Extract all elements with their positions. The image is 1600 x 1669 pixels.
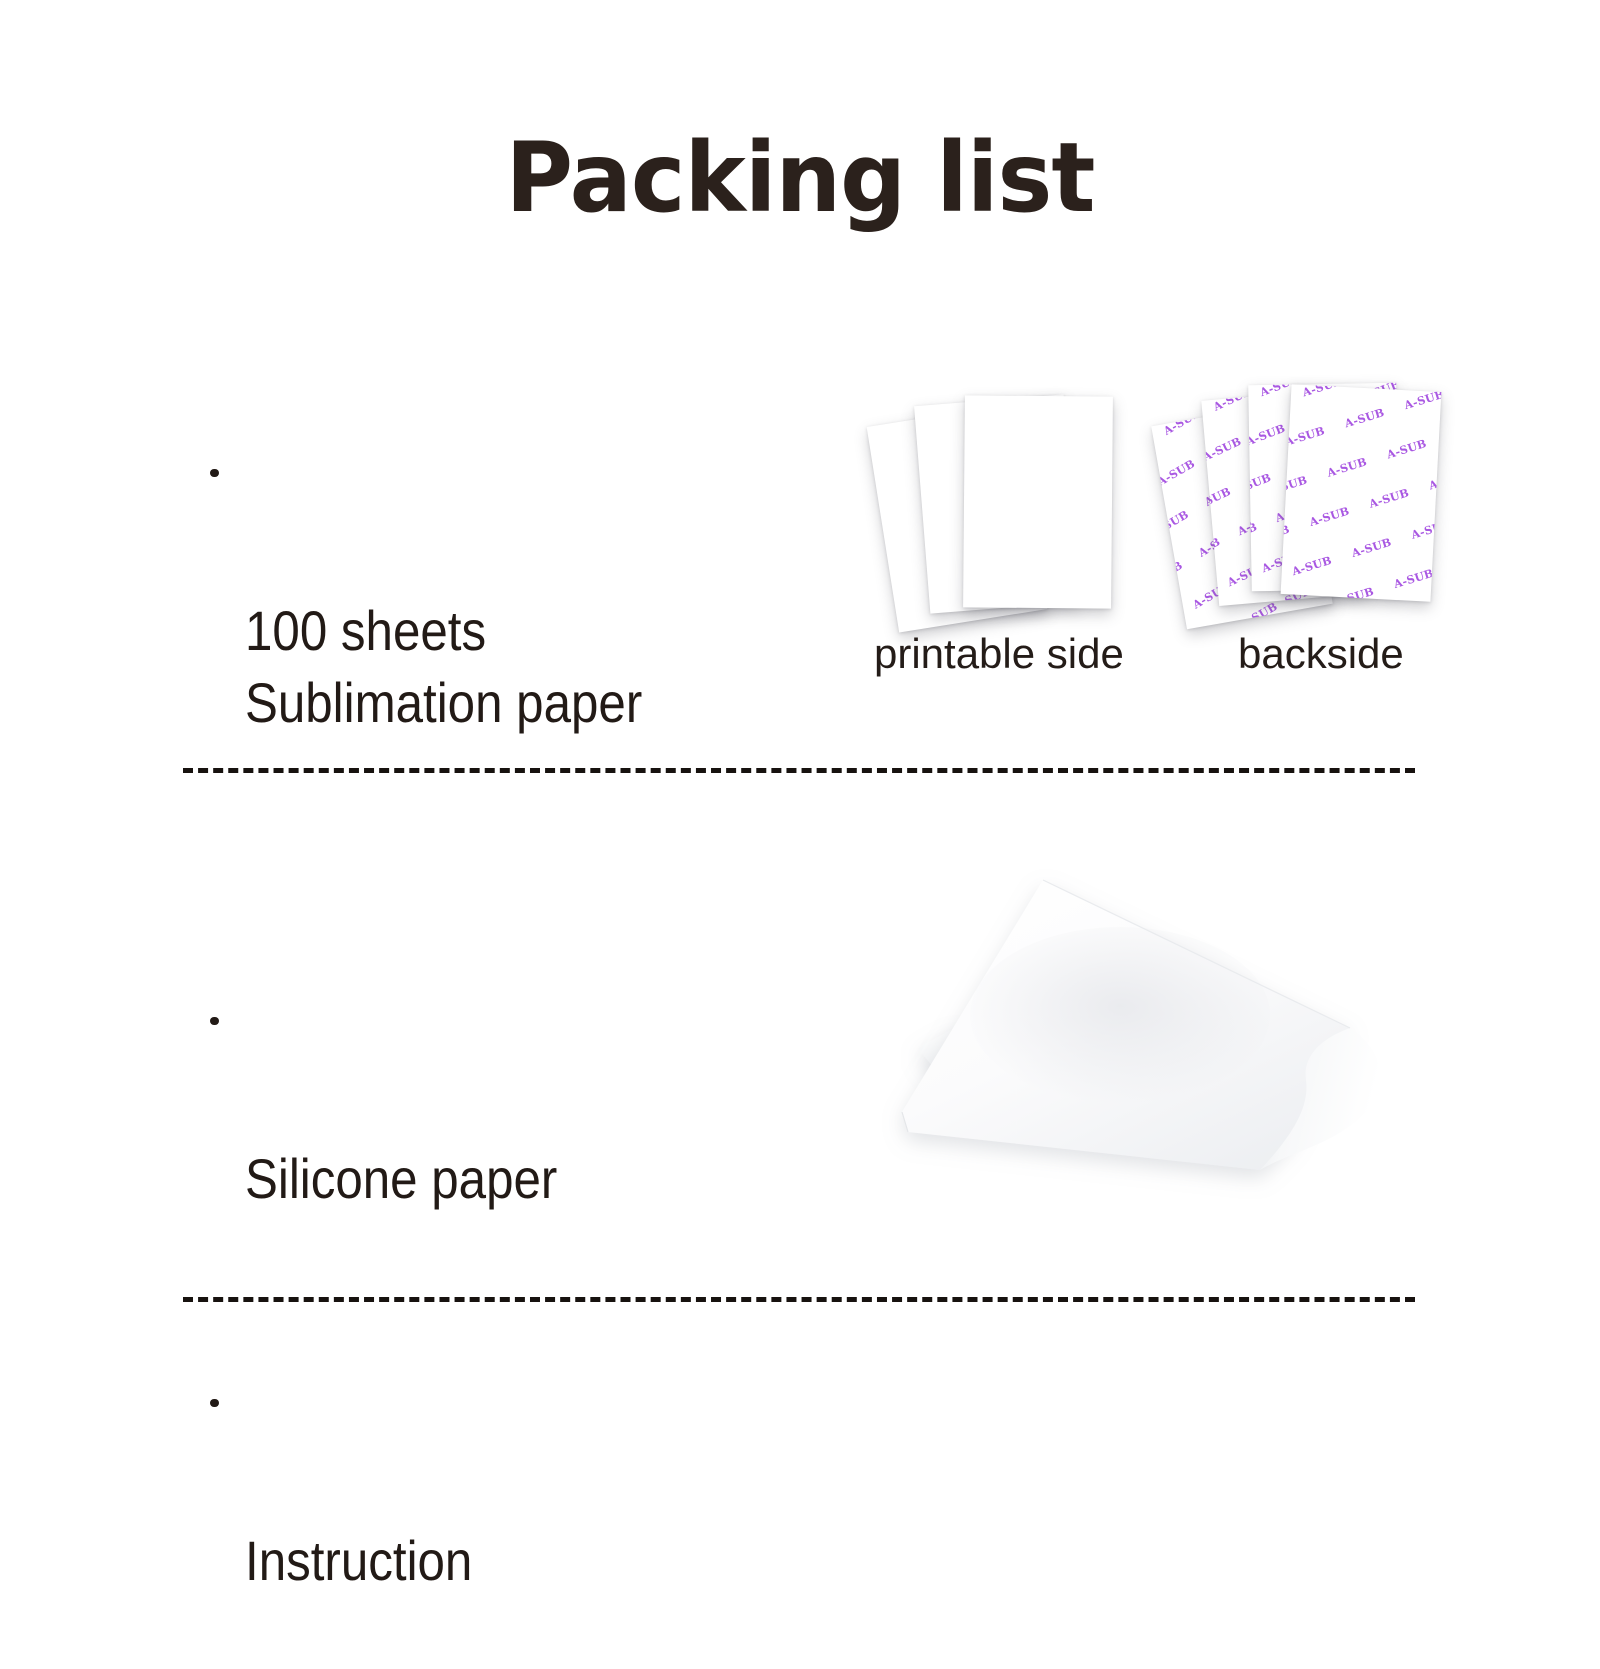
caption-printable-side: printable side bbox=[874, 630, 1124, 678]
watermark-text: A-SUB bbox=[1283, 424, 1326, 448]
watermark-text: A-SUB bbox=[1248, 422, 1286, 449]
dot-bullet-icon bbox=[210, 1399, 219, 1408]
paper-sheet bbox=[963, 395, 1113, 608]
watermark-text: A-SUB bbox=[1343, 406, 1386, 430]
silicone-paper-illustration bbox=[790, 840, 1410, 1210]
watermark-text: A-SUB bbox=[1161, 406, 1203, 438]
watermark-text: A-SUB bbox=[1155, 457, 1197, 489]
watermark-text: A-SUB bbox=[1392, 566, 1435, 590]
dot-bullet-icon bbox=[210, 1017, 219, 1026]
dot-bullet-icon bbox=[210, 469, 219, 478]
page-title: Packing list bbox=[32, 126, 1568, 232]
paper-stack-backside-illustration: A-SUBA-SUBA-SUBA-SUBA-SUBA-SUBA-SUBA-SUB… bbox=[1158, 352, 1458, 642]
dashed-divider bbox=[183, 768, 1415, 773]
watermark-text: A-SUB bbox=[1403, 387, 1442, 411]
caption-backside: backside bbox=[1238, 630, 1404, 678]
list-item-sublimation-paper: 100 sheets Sublimation paper bbox=[210, 452, 696, 810]
watermark-text: A-SUB bbox=[1385, 437, 1428, 461]
watermark-text: A-SUB bbox=[1211, 388, 1254, 414]
watermark-text: A-SUB bbox=[1368, 486, 1411, 510]
watermark-text: A-SUB bbox=[1285, 620, 1327, 629]
watermark-text: A-SUB bbox=[1201, 435, 1243, 464]
list-item-label: Silicone paper bbox=[245, 1143, 557, 1215]
watermark-text: A-SUB bbox=[1434, 597, 1441, 601]
watermark-text: A-SUB bbox=[1308, 504, 1351, 528]
paper-stack-printable-illustration bbox=[860, 352, 1160, 642]
watermark-text: A-SUB bbox=[1151, 508, 1191, 540]
watermark-pattern: A-SUBA-SUBA-SUBA-SUBA-SUBA-SUBA-SUBA-SUB… bbox=[1281, 384, 1442, 602]
watermark-text: A-SUB bbox=[1332, 585, 1375, 602]
paper-sheet-watermarked: A-SUBA-SUBA-SUBA-SUBA-SUBA-SUBA-SUBA-SUB… bbox=[1281, 384, 1442, 602]
list-item-label: Instruction bbox=[245, 1525, 472, 1597]
list-item-label: 100 sheets Sublimation paper bbox=[245, 595, 642, 738]
watermark-text: A-SUB bbox=[1325, 455, 1368, 479]
watermark-text: A-SUB bbox=[1237, 600, 1279, 629]
list-item-silicone-paper: Silicone paper bbox=[210, 1000, 600, 1287]
watermark-text: A-SUB bbox=[1201, 388, 1208, 389]
watermark-text: A-SUB bbox=[1301, 384, 1344, 399]
watermark-text: A-SUB bbox=[1410, 517, 1442, 541]
watermark-text: A-SUB bbox=[1350, 535, 1393, 559]
watermark-text: A-SUB bbox=[1290, 554, 1333, 578]
list-item-instruction: Instruction bbox=[210, 1382, 503, 1669]
dashed-divider bbox=[183, 1297, 1415, 1302]
watermark-text: A-SUB bbox=[1427, 468, 1441, 492]
silicone-translucency bbox=[970, 927, 1270, 1103]
watermark-text: A-SUB bbox=[1248, 471, 1272, 498]
